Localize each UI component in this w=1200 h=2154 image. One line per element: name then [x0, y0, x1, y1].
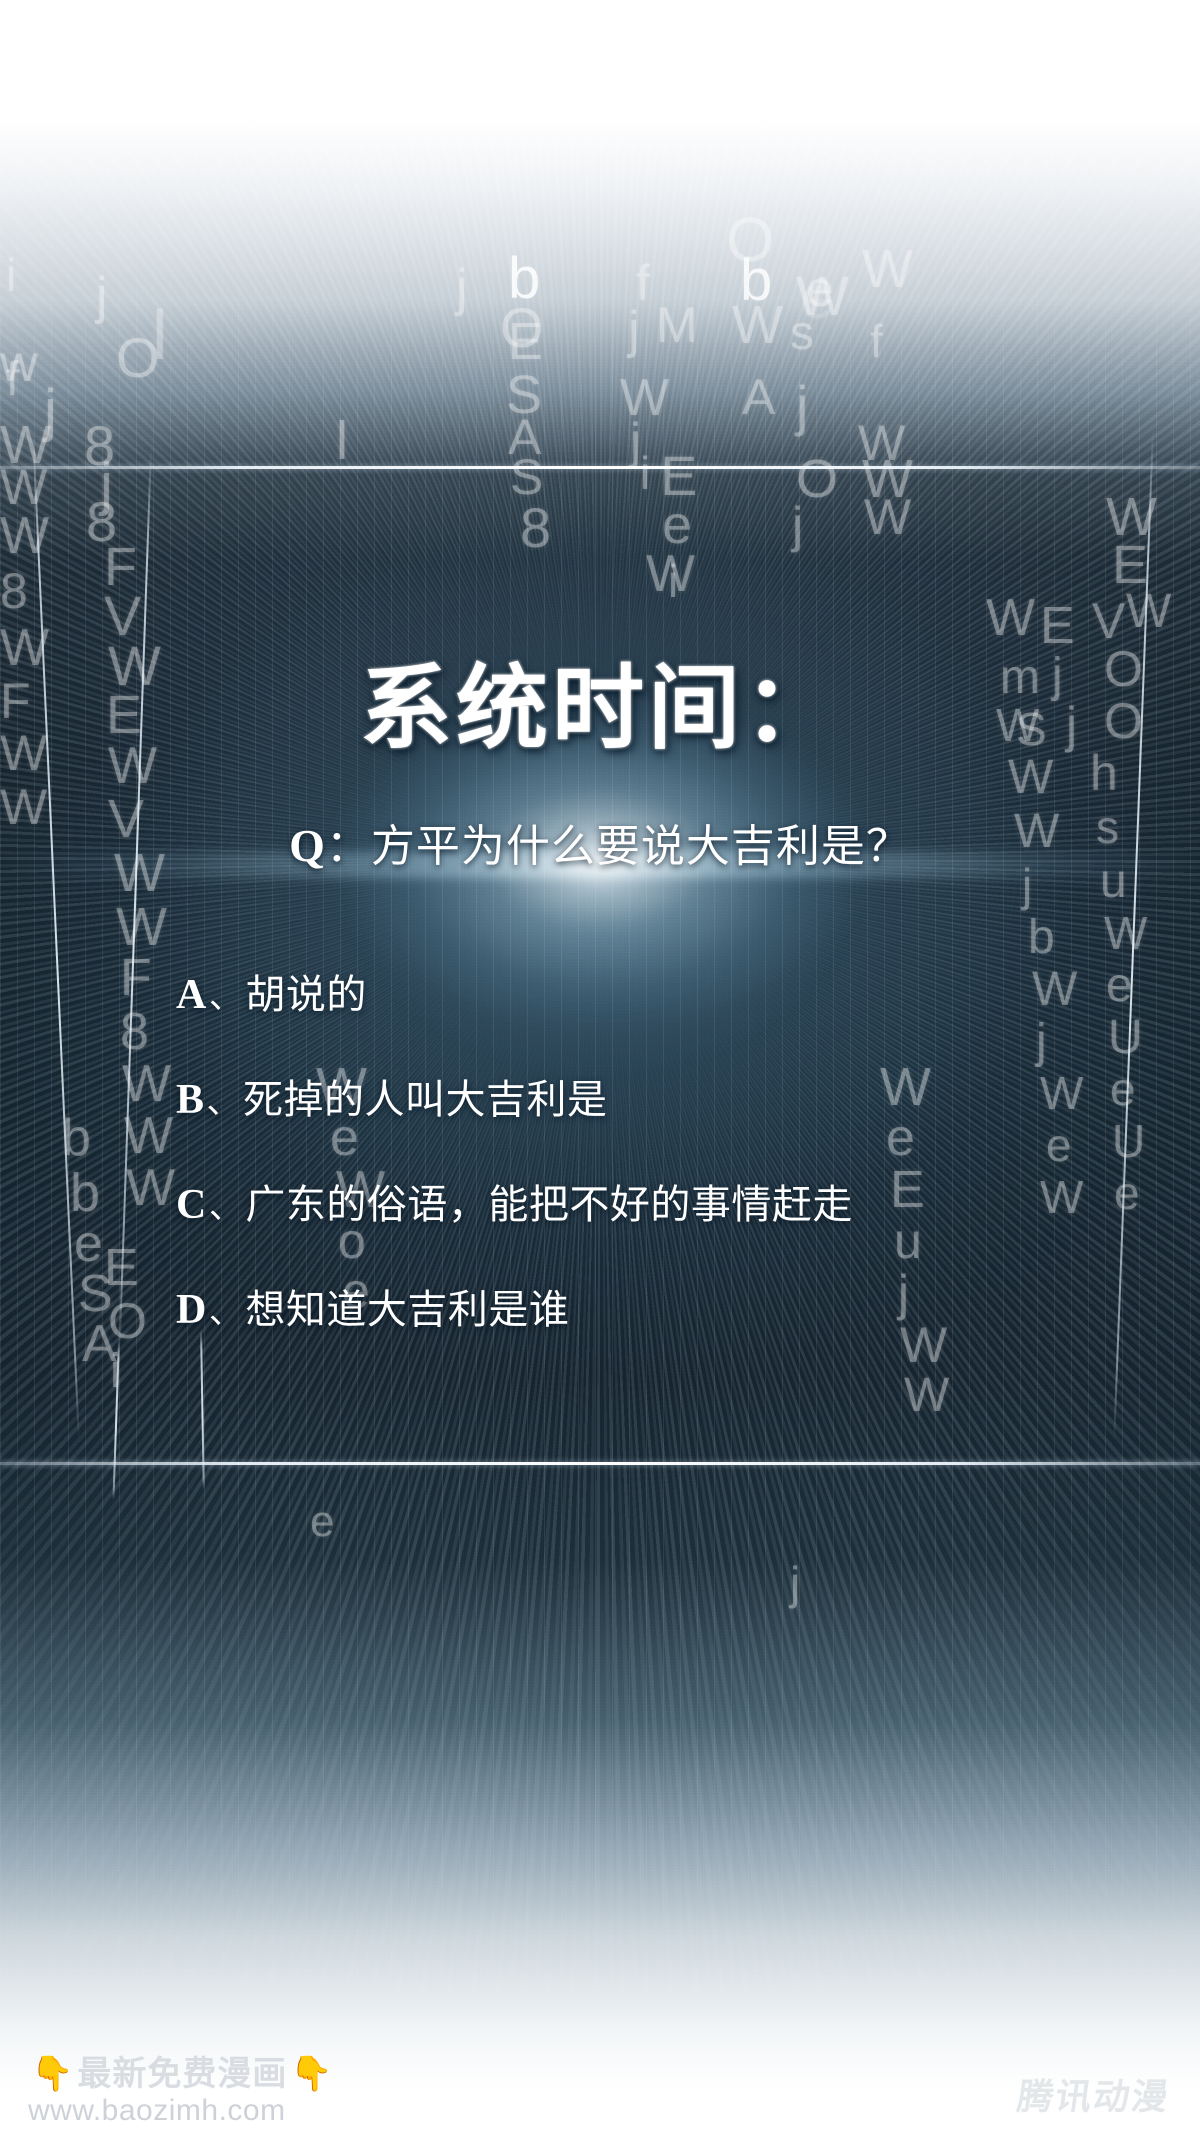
option-c-key: C: [176, 1181, 207, 1229]
option-d-text: 想知道大吉利是谁: [245, 1277, 569, 1335]
option-b-text: 死掉的人叫大吉利是: [243, 1067, 608, 1125]
quiz-question: Q：方平为什么要说大吉利是？: [0, 810, 1200, 874]
option-d-separator: 、: [209, 1284, 244, 1333]
quiz-option-c[interactable]: C、广东的俗语，能把不好的事情赶走: [176, 1172, 1200, 1230]
option-a-separator: 、: [209, 969, 244, 1018]
option-a-key: A: [176, 971, 207, 1019]
question-text: 方平为什么要说大吉利是？: [371, 822, 911, 871]
quiz-option-d[interactable]: D、想知道大吉利是谁: [176, 1277, 1200, 1335]
option-b-key: B: [176, 1076, 205, 1124]
quiz-option-a[interactable]: A、胡说的: [176, 962, 1200, 1020]
watermark-promo-row: 👇最新免费漫画👇: [28, 2057, 337, 2093]
quiz-option-b[interactable]: B、死掉的人叫大吉利是: [176, 1067, 1200, 1125]
watermark-site-url: www.baozimh.com: [28, 2095, 337, 2127]
option-c-separator: 、: [209, 1179, 244, 1228]
quiz-options: A、胡说的 B、死掉的人叫大吉利是 C、广东的俗语，能把不好的事情赶走 D、想知…: [0, 962, 1200, 1382]
site-watermark[interactable]: 👇最新免费漫画👇 www.baozimh.com: [28, 2057, 337, 2126]
option-b-separator: 、: [207, 1074, 242, 1123]
question-label: Q: [289, 820, 326, 871]
watermark-promo-text: 最新免费漫画: [77, 2057, 287, 2093]
pointing-down-hand-icon-left: 👇: [31, 2057, 74, 2093]
option-d-key: D: [176, 1286, 207, 1334]
brand-watermark: 腾讯动漫: [1014, 2068, 1173, 2120]
panel-title: 系统时间：: [0, 634, 1200, 767]
option-c-text: 广东的俗语，能把不好的事情赶走: [245, 1172, 853, 1230]
comic-panel: i j l j b O b W e W f w f O O j W s e M …: [0, 0, 1200, 2154]
question-colon: ：: [326, 822, 371, 871]
pointing-down-hand-icon-right: 👇: [290, 2057, 333, 2093]
quiz-content: 系统时间： Q：方平为什么要说大吉利是？ A、胡说的 B、死掉的人叫大吉利是 C…: [0, 0, 1200, 2154]
option-a-text: 胡说的: [245, 962, 367, 1020]
